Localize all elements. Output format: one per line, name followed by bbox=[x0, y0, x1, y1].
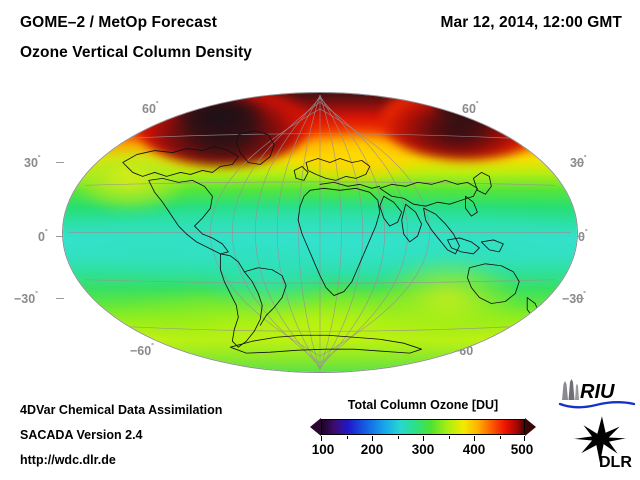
page-title-line-1: GOME–2 / MetOp Forecast bbox=[20, 14, 217, 32]
colorbar-tick-200 bbox=[372, 436, 373, 441]
ozone-globe bbox=[62, 92, 578, 373]
colorbar-title: Total Column Ozone [DU] bbox=[310, 398, 536, 412]
colorbar-tick-250 bbox=[398, 436, 399, 439]
colorbar-tick-100 bbox=[321, 436, 322, 441]
colorbar-label-200: 200 bbox=[361, 442, 384, 457]
colorbar-tick-450 bbox=[500, 436, 501, 439]
lat-label-left-minus30: −30˚ bbox=[14, 290, 38, 306]
colorbar-legend: Total Column Ozone [DU] 100 200 300 400 … bbox=[310, 398, 536, 470]
dlr-logo: DLR bbox=[562, 412, 636, 470]
colorbar-label-400: 400 bbox=[463, 442, 486, 457]
riu-wordmark: RIU bbox=[580, 381, 615, 403]
colorbar-label-300: 300 bbox=[412, 442, 435, 457]
footer-line-url[interactable]: http://wdc.dlr.de bbox=[20, 453, 116, 467]
colorbar-ticks bbox=[321, 436, 525, 441]
graticule-group bbox=[69, 95, 571, 370]
colorbar-tick-350 bbox=[449, 436, 450, 439]
colorbar-labels: 100 200 300 400 500 bbox=[321, 442, 525, 462]
colorbar-gradient bbox=[321, 419, 525, 435]
colorbar-bar-row bbox=[310, 418, 536, 436]
map-vector-overlay bbox=[63, 93, 577, 372]
colorbar-label-100: 100 bbox=[312, 442, 335, 457]
colorbar-tick-300 bbox=[423, 436, 424, 441]
colorbar-under-arrow-icon bbox=[310, 418, 321, 436]
lat-label-left-0: 0˚ bbox=[38, 228, 48, 244]
ozone-map-panel: 60˚ 30˚ 0˚ −30˚ −60˚ 60˚ 30˚ 0˚ −30˚ −60… bbox=[0, 78, 640, 383]
footer-line-method: 4DVar Chemical Data Assimilation bbox=[20, 403, 222, 417]
colorbar-tick-500 bbox=[524, 436, 525, 441]
page-title-line-2: Ozone Vertical Column Density bbox=[20, 44, 252, 62]
colorbar-over-arrow-icon bbox=[525, 418, 536, 436]
dlr-wordmark: DLR bbox=[599, 454, 632, 470]
colorbar-tick-400 bbox=[474, 436, 475, 441]
footer-line-version: SACADA Version 2.4 bbox=[20, 428, 143, 442]
riu-logo: RIU bbox=[556, 376, 636, 410]
riu-tower-icon bbox=[562, 379, 579, 400]
forecast-timestamp: Mar 12, 2014, 12:00 GMT bbox=[440, 14, 622, 32]
lat-label-left-30: 30˚ bbox=[24, 154, 41, 170]
coastline-group bbox=[123, 131, 539, 353]
colorbar-label-500: 500 bbox=[511, 442, 534, 457]
colorbar-tick-150 bbox=[347, 436, 348, 439]
